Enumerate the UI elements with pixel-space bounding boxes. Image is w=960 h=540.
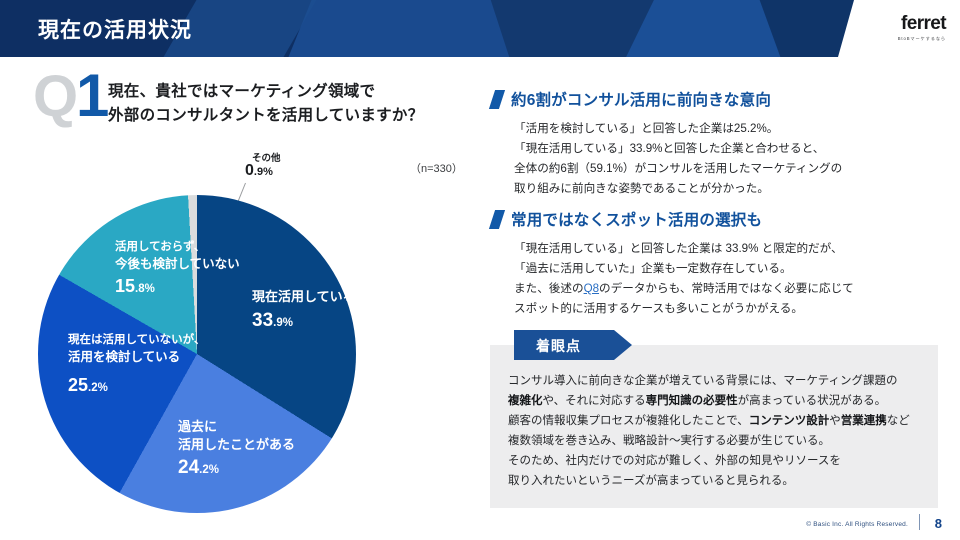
section-2-line-1: 「現在活用している」と回答した企業は 33.9% と限定的だが、	[514, 239, 854, 259]
slice-label-considering: 現在は活用していないが、 活用を検討している 25.2%	[68, 333, 205, 398]
question-number: 1	[76, 66, 109, 126]
page-number: 8	[935, 516, 942, 531]
section-1-body: 「活用を検討している」と回答した企業は25.2%。 「現在活用している」33.9…	[514, 119, 842, 199]
section-2-body: 「現在活用している」と回答した企業は 33.9% と限定的だが、 「過去に活用し…	[514, 239, 854, 319]
section-2-title: 常用ではなくスポット活用の選択も	[511, 208, 762, 230]
slash-icon	[489, 90, 505, 109]
insight-line-2: 複雑化や、それに対応する専門知識の必要性が高まっている状況がある。	[508, 391, 933, 411]
q8-link[interactable]: Q8	[584, 282, 599, 295]
ferret-logo: ferret	[901, 13, 946, 35]
slide-header: 現在の活用状況 ferret BtoBマーケするなら	[0, 0, 960, 57]
question-line-1: 現在、貴社ではマーケティング領域で	[108, 80, 424, 104]
insight-line-6: 取り入れたいというニーズが高まっていると見られる。	[508, 471, 933, 491]
section-1-heading: 約6割がコンサル活用に前向きな意向	[492, 88, 842, 110]
slice-past-line2: 活用したことがある	[178, 436, 295, 454]
question-text: 現在、貴社ではマーケティング領域で 外部のコンサルタントを活用していますか？	[108, 80, 424, 128]
insight-line-3: 顧客の情報収集プロセスが複雑化したことで、コンテンツ設計や営業連携など	[508, 411, 933, 431]
section-2-line-3-pre: また、後述の	[514, 282, 584, 295]
sample-size-note: （n=330）	[410, 160, 463, 176]
insight-text: コンサル導入に前向きな企業が増えている背景には、マーケティング課題の 複雑化や、…	[508, 371, 933, 491]
section-1-line-4: 取り組みに前向きな姿勢であることが分かった。	[514, 179, 842, 199]
insight-badge: 着眼点	[514, 330, 632, 360]
other-value-int: 0	[245, 162, 254, 179]
slice-considering-line2: 活用を検討している	[68, 349, 205, 366]
logo-tagline: BtoBマーケするなら	[898, 36, 946, 42]
insight-line-5: そのため、社内だけでの対応が難しく、外部の知見やリソースを	[508, 451, 933, 471]
slice-label-none: 活用しておらず、 今後も検討していない 15.8%	[115, 240, 240, 299]
slice-current-line1: 現在活用している	[252, 288, 356, 306]
insight-section-1: 約6割がコンサル活用に前向きな意向 「活用を検討している」と回答した企業は25.…	[492, 88, 842, 199]
footer-divider	[919, 514, 920, 530]
section-2-heading: 常用ではなくスポット活用の選択も	[492, 208, 854, 230]
slice-past-line1: 過去に	[178, 418, 295, 436]
section-2-line-2: 「過去に活用していた」企業も一定数存在している。	[514, 259, 854, 279]
slice-past-value: 24.2%	[178, 455, 295, 481]
section-1-line-2: 「現在活用している」33.9%と回答した企業と合わせると、	[514, 139, 842, 159]
slice-considering-value: 25.2%	[68, 373, 205, 397]
pie-chart: （n=330） その他 0.9% 現在活用している 33.9% 過去に 活用した…	[30, 150, 480, 520]
slice-label-past: 過去に 活用したことがある 24.2%	[178, 418, 295, 481]
slice-value-other: 0.9%	[245, 162, 273, 180]
logo-panel: ferret BtoBマーケするなら	[838, 0, 960, 57]
section-2-line-3-post: のデータからも、常時活用ではなく必要に応じて	[599, 282, 854, 295]
insight-line-1: コンサル導入に前向きな企業が増えている背景には、マーケティング課題の	[508, 371, 933, 391]
slash-icon	[489, 210, 505, 229]
question-line-2: 外部のコンサルタントを活用していますか？	[108, 104, 424, 128]
slice-none-line2: 今後も検討していない	[115, 256, 240, 273]
slice-none-value: 15.8%	[115, 274, 240, 298]
section-1-line-3: 全体の約6割（59.1%）がコンサルを活用したマーケティングの	[514, 159, 842, 179]
other-value-dec: .9%	[254, 166, 273, 178]
insight-badge-label: 着眼点	[536, 336, 581, 356]
insight-line-4: 複数領域を巻き込み、戦略設計〜実行する必要が生じている。	[508, 431, 933, 451]
slice-considering-line1: 現在は活用していないが、	[68, 333, 205, 349]
slice-label-current: 現在活用している 33.9%	[252, 288, 356, 333]
copyright-text: © Basic Inc. All Rights Reserved.	[806, 521, 908, 528]
section-1-title: 約6割がコンサル活用に前向きな意向	[511, 88, 771, 110]
section-1-line-1: 「活用を検討している」と回答した企業は25.2%。	[514, 119, 842, 139]
slice-none-line1: 活用しておらず、	[115, 240, 240, 256]
question-letter: Q	[33, 68, 78, 126]
insight-section-2: 常用ではなくスポット活用の選択も 「現在活用している」と回答した企業は 33.9…	[492, 208, 854, 319]
section-2-line-3: また、後述のQ8のデータからも、常時活用ではなく必要に応じて	[514, 279, 854, 299]
slice-current-value: 33.9%	[252, 308, 356, 334]
page-title: 現在の活用状況	[38, 14, 192, 44]
section-2-line-4: スポット的に活用するケースも多いことがうかがえる。	[514, 299, 854, 319]
